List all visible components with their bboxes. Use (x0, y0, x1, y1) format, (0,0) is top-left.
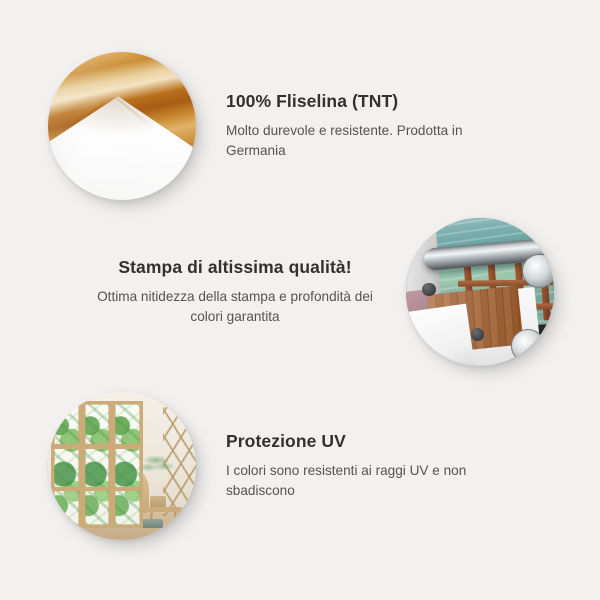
feature-row-stampa-qualita: Stampa di altissima qualità! Ottima niti… (80, 218, 600, 366)
tropical-room-divider-image (48, 392, 196, 540)
printer-image-inner (406, 218, 554, 366)
printer-knob (422, 283, 435, 296)
printer-paper-fold (406, 303, 475, 366)
screen-panel (51, 401, 82, 528)
feature-copy-fliselina: 100% Fliselina (TNT) Molto durevole e re… (196, 91, 520, 160)
wallpaper-peeling-corner-image (48, 52, 196, 200)
room-image-inner (48, 392, 196, 540)
screen-panel (112, 401, 143, 528)
screen-cross-rail (51, 487, 143, 491)
wallpaper-image-inner (48, 52, 196, 200)
feature-row-protezione-uv: Protezione UV I colori sono resistenti a… (0, 392, 520, 540)
feature-heading: Protezione UV (226, 431, 506, 452)
feature-body: Ottima nitidezza della stampa e profondi… (94, 287, 376, 326)
feature-body: Molto durevole e resistente. Prodotta in… (226, 121, 506, 160)
feature-row-fliselina: 100% Fliselina (TNT) Molto durevole e re… (0, 52, 520, 200)
feature-heading: 100% Fliselina (TNT) (226, 91, 506, 112)
printer-roller-end-cap (511, 329, 546, 364)
feature-heading: Stampa di altissima qualità! (94, 257, 376, 278)
screen-panel (82, 401, 113, 528)
promo-panel: 100% Fliselina (TNT) Molto durevole e re… (0, 0, 600, 600)
feature-body: I colori sono resistenti ai raggi UV e n… (226, 461, 506, 500)
printer-roller-end-cap (522, 254, 554, 289)
feature-copy-protezione-uv: Protezione UV I colori sono resistenti a… (196, 431, 520, 500)
large-format-printer-image (406, 218, 554, 366)
feature-copy-stampa-qualita: Stampa di altissima qualità! Ottima niti… (80, 257, 406, 326)
tropical-folding-screen (51, 401, 143, 528)
screen-cross-rail (51, 445, 143, 449)
